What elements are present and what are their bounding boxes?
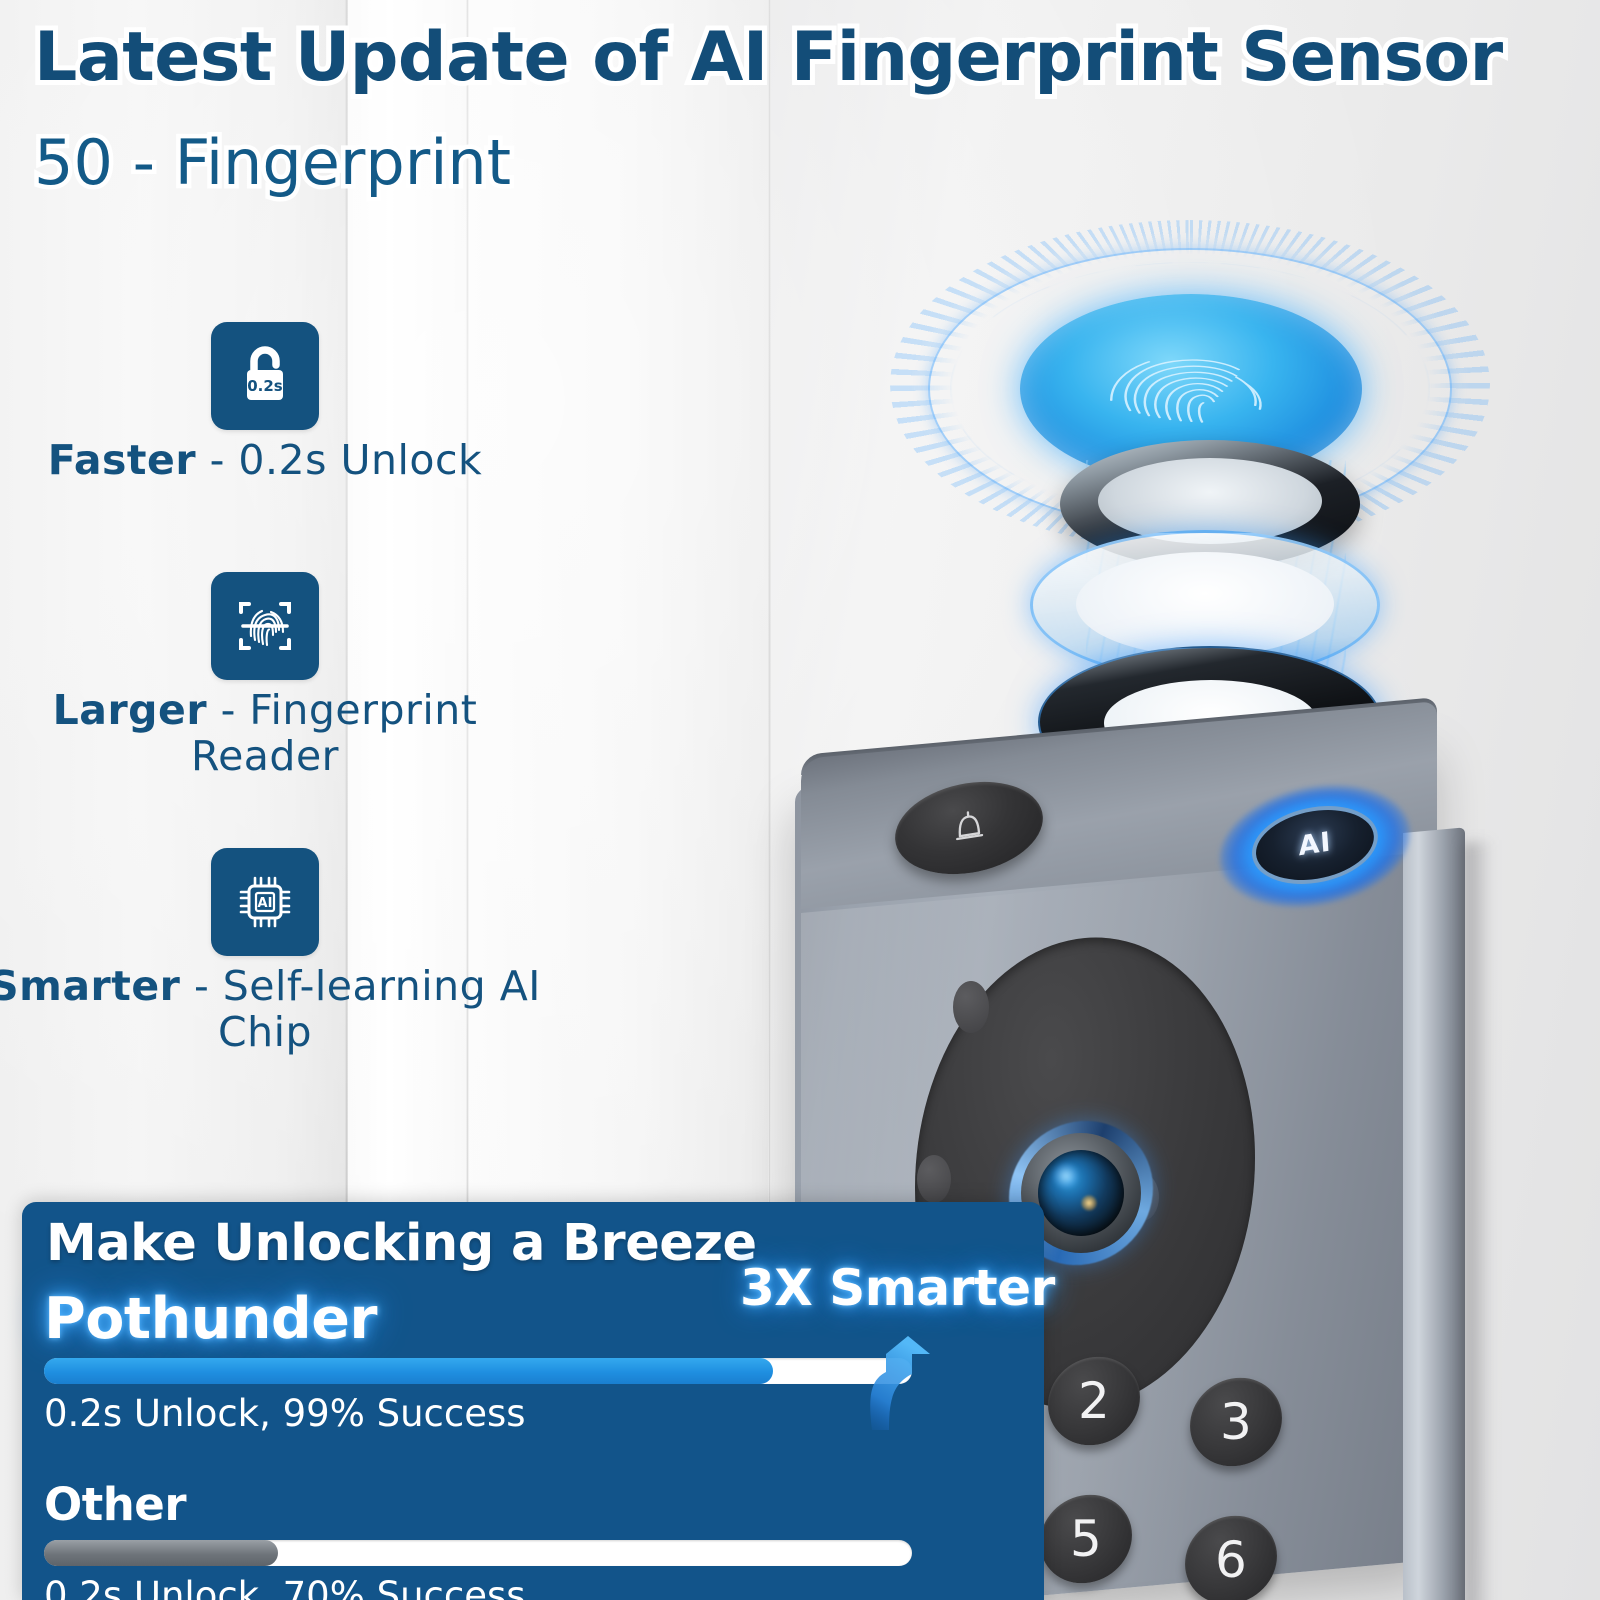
feature-smarter: AI Smarter - Self-learning AI Chip: [0, 848, 545, 1056]
camera-lens-specular: [1053, 1163, 1079, 1189]
keypad-key-3-label: 3: [1220, 1393, 1252, 1451]
feature-faster-bold: Faster: [48, 436, 196, 484]
unlock-timer-icon: 0.2s: [211, 322, 319, 430]
feature-smarter-bold: Smarter: [0, 962, 180, 1010]
ai-chip-text: AI: [258, 896, 273, 911]
feature-faster-rest: - 0.2s Unlock: [196, 436, 482, 484]
comparison-panel: Make Unlocking a Breeze Pothunder 0.2s U…: [22, 1202, 1044, 1600]
progress-track-pothunder: [44, 1358, 912, 1384]
ir-led-left: [917, 1155, 951, 1203]
brand-label: Pothunder: [44, 1286, 377, 1352]
feature-larger: Larger - Fingerprint Reader: [0, 572, 545, 780]
camera-lens-glass: [1038, 1150, 1124, 1236]
lock-badge-text: 0.2s: [247, 377, 283, 395]
keypad-key-5-label: 5: [1070, 1510, 1102, 1568]
feature-faster-label: Faster - 0.2s Unlock: [0, 438, 545, 484]
progress-track-other: [44, 1540, 912, 1566]
ai-chip-icon: AI: [211, 848, 319, 956]
feature-larger-label: Larger - Fingerprint Reader: [0, 688, 545, 780]
up-arrow-icon: [856, 1320, 942, 1430]
open-padlock-icon: 0.2s: [229, 340, 301, 412]
other-label: Other: [44, 1478, 186, 1531]
progress-fill-pothunder: [44, 1358, 773, 1384]
device-right-edge: [1403, 827, 1465, 1600]
fingerprint-scan-icon: [211, 572, 319, 680]
feature-smarter-label: Smarter - Self-learning AI Chip: [0, 964, 545, 1056]
comparison-title: Make Unlocking a Breeze: [46, 1214, 757, 1273]
feature-faster: 0.2s Faster - 0.2s Unlock: [0, 322, 545, 484]
page-subtitle: 50 - Fingerprint: [34, 132, 511, 194]
feature-larger-rest: - Fingerprint Reader: [191, 686, 477, 780]
note-pothunder: 0.2s Unlock, 99% Success: [44, 1392, 526, 1435]
keypad-key-2-label: 2: [1078, 1372, 1110, 1430]
device-drop-shadow: [1463, 840, 1493, 1600]
progress-fill-other: [44, 1540, 278, 1566]
fingerprint-scanner-icon: [229, 590, 301, 662]
page-title: Latest Update of AI Fingerprint Sensor: [34, 24, 1574, 92]
ir-led-top: [953, 981, 989, 1033]
smarter-callout: 3X Smarter: [740, 1259, 1055, 1317]
feature-smarter-rest: - Self-learning AI Chip: [180, 962, 540, 1056]
bell-icon: [944, 801, 993, 854]
camera-lens-flare: [1081, 1195, 1097, 1211]
ai-processor-icon: AI: [229, 866, 301, 938]
feature-larger-bold: Larger: [53, 686, 207, 734]
keypad-key-6-label: 6: [1215, 1531, 1247, 1589]
hologram-ring-glass-2-hole: [1076, 552, 1334, 656]
ai-button-label: AI: [1255, 820, 1375, 869]
note-other: 0.2s Unlock, 70% Success: [44, 1574, 526, 1600]
